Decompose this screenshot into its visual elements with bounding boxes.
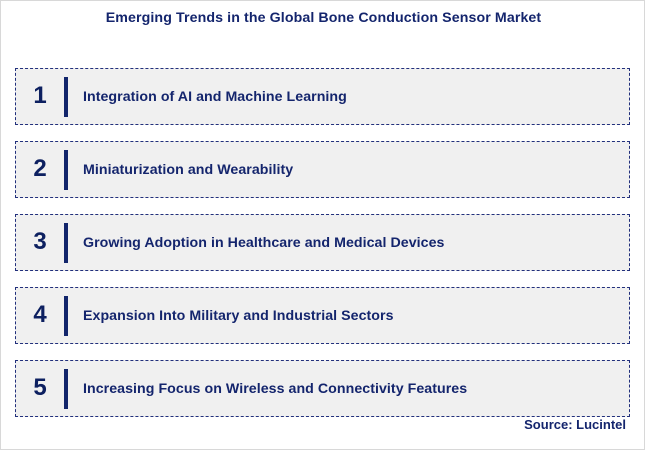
divider-bar [64,223,68,263]
list-item: 3 Growing Adoption in Healthcare and Med… [15,214,630,271]
trend-number: 5 [16,376,64,402]
divider-bar [64,369,68,409]
list-item: 2 Miniaturization and Wearability [15,141,630,198]
trend-number: 4 [16,303,64,329]
list-item: 4 Expansion Into Military and Industrial… [15,287,630,344]
source-attribution: Source: Lucintel [524,417,626,432]
divider-bar [64,150,68,190]
page-title: Emerging Trends in the Global Bone Condu… [1,10,645,26]
trend-number: 3 [16,230,64,256]
trend-number: 1 [16,84,64,110]
trend-list: 1 Integration of AI and Machine Learning… [15,68,630,417]
infographic-canvas: Emerging Trends in the Global Bone Condu… [0,0,645,450]
divider-bar [64,296,68,336]
trend-label: Growing Adoption in Healthcare and Medic… [83,235,629,251]
trend-label: Increasing Focus on Wireless and Connect… [83,381,629,397]
list-item: 1 Integration of AI and Machine Learning [15,68,630,125]
list-item: 5 Increasing Focus on Wireless and Conne… [15,360,630,417]
divider-bar [64,77,68,117]
trend-label: Miniaturization and Wearability [83,162,629,178]
trend-label: Expansion Into Military and Industrial S… [83,308,629,324]
trend-label: Integration of AI and Machine Learning [83,89,629,105]
trend-number: 2 [16,157,64,183]
